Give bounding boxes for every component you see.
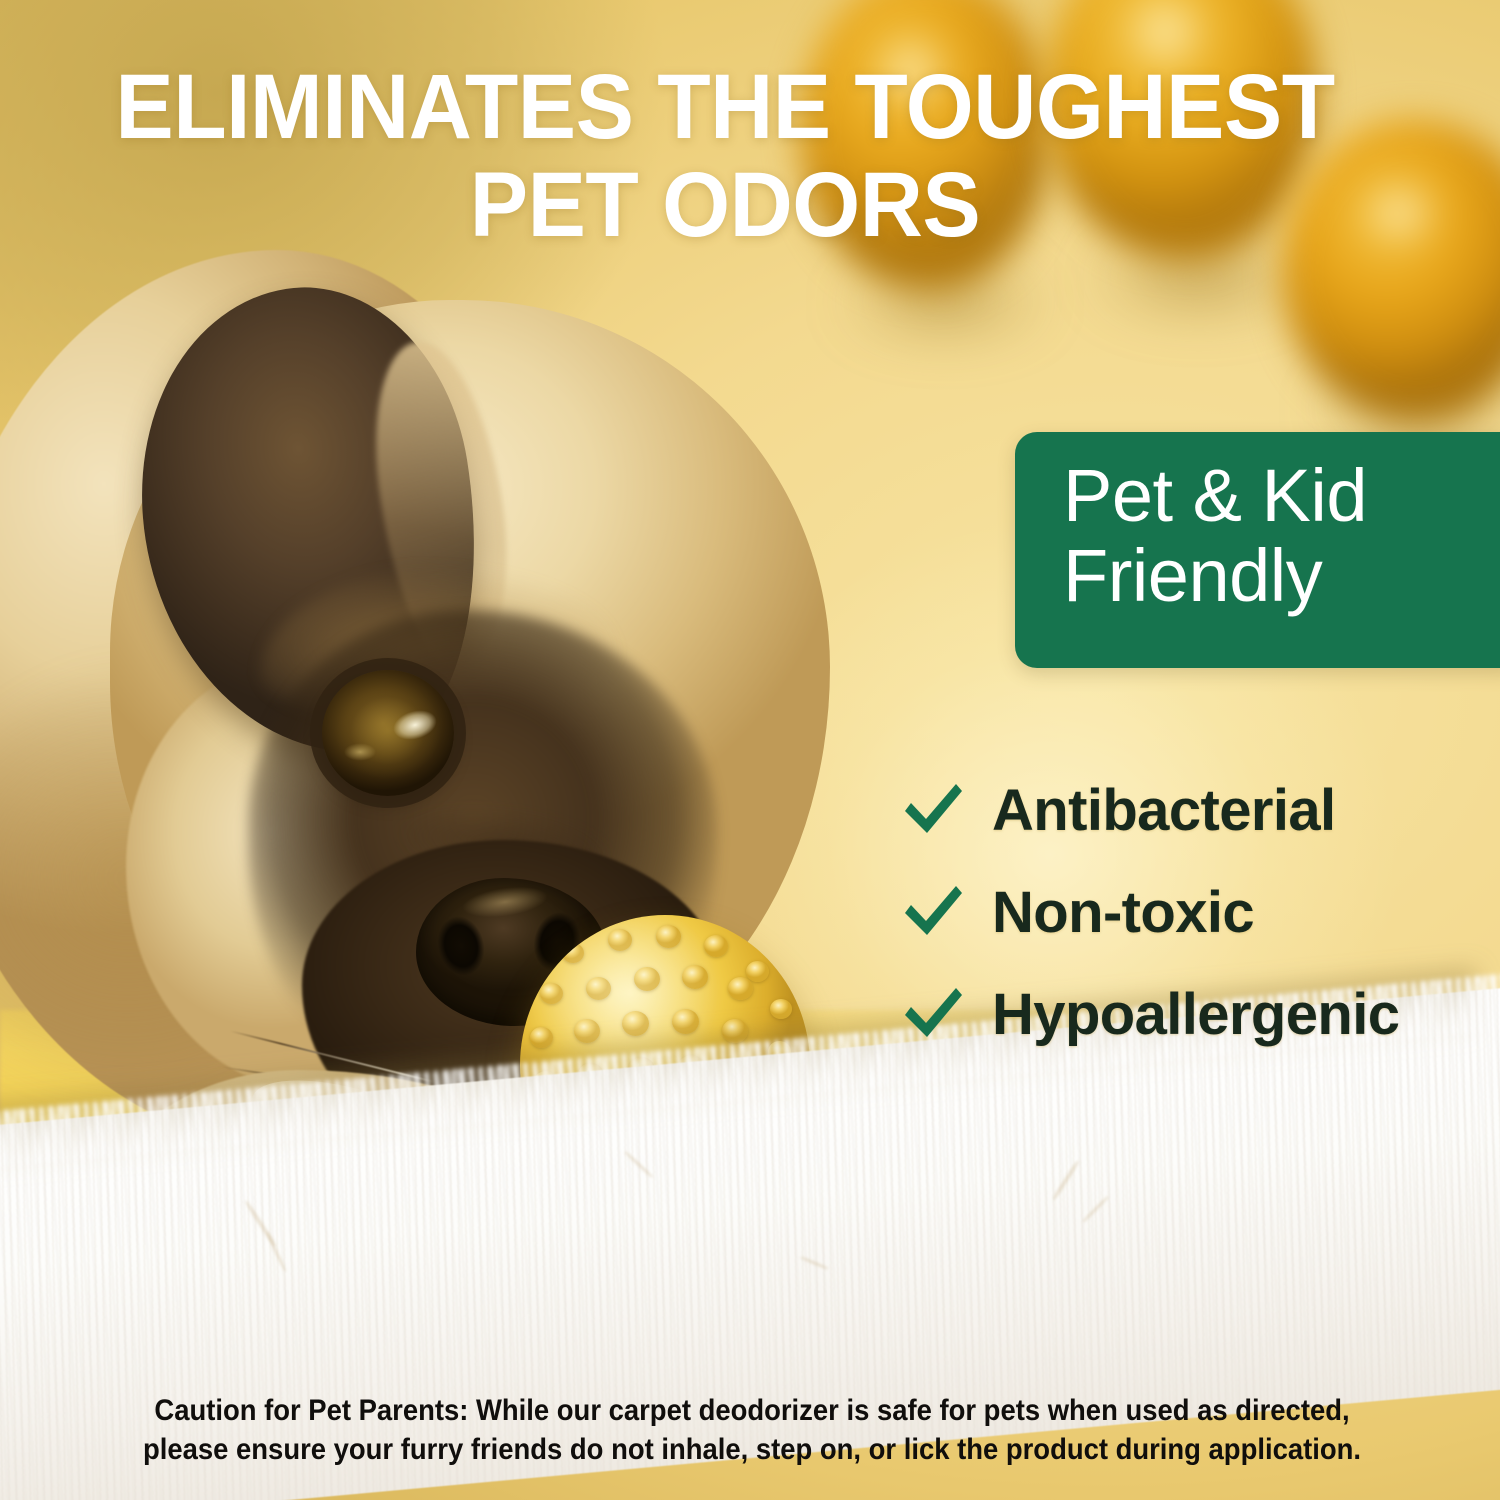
caution-line-2: please ensure your furry friends do not … <box>101 1431 1403 1470</box>
check-icon <box>900 880 966 946</box>
badge-text: Pet & Kid Friendly <box>1063 456 1500 616</box>
benefit-label: Non-toxic <box>992 884 1254 942</box>
badge-line-2: Friendly <box>1063 536 1500 616</box>
headline-line-1: ELIMINATES THE TOUGHEST <box>36 58 1414 156</box>
badge-line-1: Pet & Kid <box>1063 456 1500 536</box>
benefits-list: Antibacterial Non-toxic Hypoallergenic <box>900 760 1500 1066</box>
benefit-item-hypoallergenic: Hypoallergenic <box>900 964 1500 1066</box>
caution-line-1: Caution for Pet Parents: While our carpe… <box>101 1392 1403 1431</box>
benefit-label: Antibacterial <box>992 782 1336 840</box>
dog-eye <box>322 670 454 796</box>
check-icon <box>900 982 966 1048</box>
check-icon <box>900 778 966 844</box>
caution-text: Caution for Pet Parents: While our carpe… <box>101 1392 1403 1470</box>
headline: ELIMINATES THE TOUGHEST PET ODORS <box>36 58 1414 255</box>
benefit-item-non-toxic: Non-toxic <box>900 862 1500 964</box>
pet-kid-friendly-badge: Pet & Kid Friendly <box>1015 432 1500 668</box>
benefit-item-antibacterial: Antibacterial <box>900 760 1500 862</box>
product-banner: ELIMINATES THE TOUGHEST PET ODORS Pet & … <box>0 0 1500 1500</box>
benefit-label: Hypoallergenic <box>992 986 1399 1044</box>
headline-line-2: PET ODORS <box>36 156 1414 254</box>
